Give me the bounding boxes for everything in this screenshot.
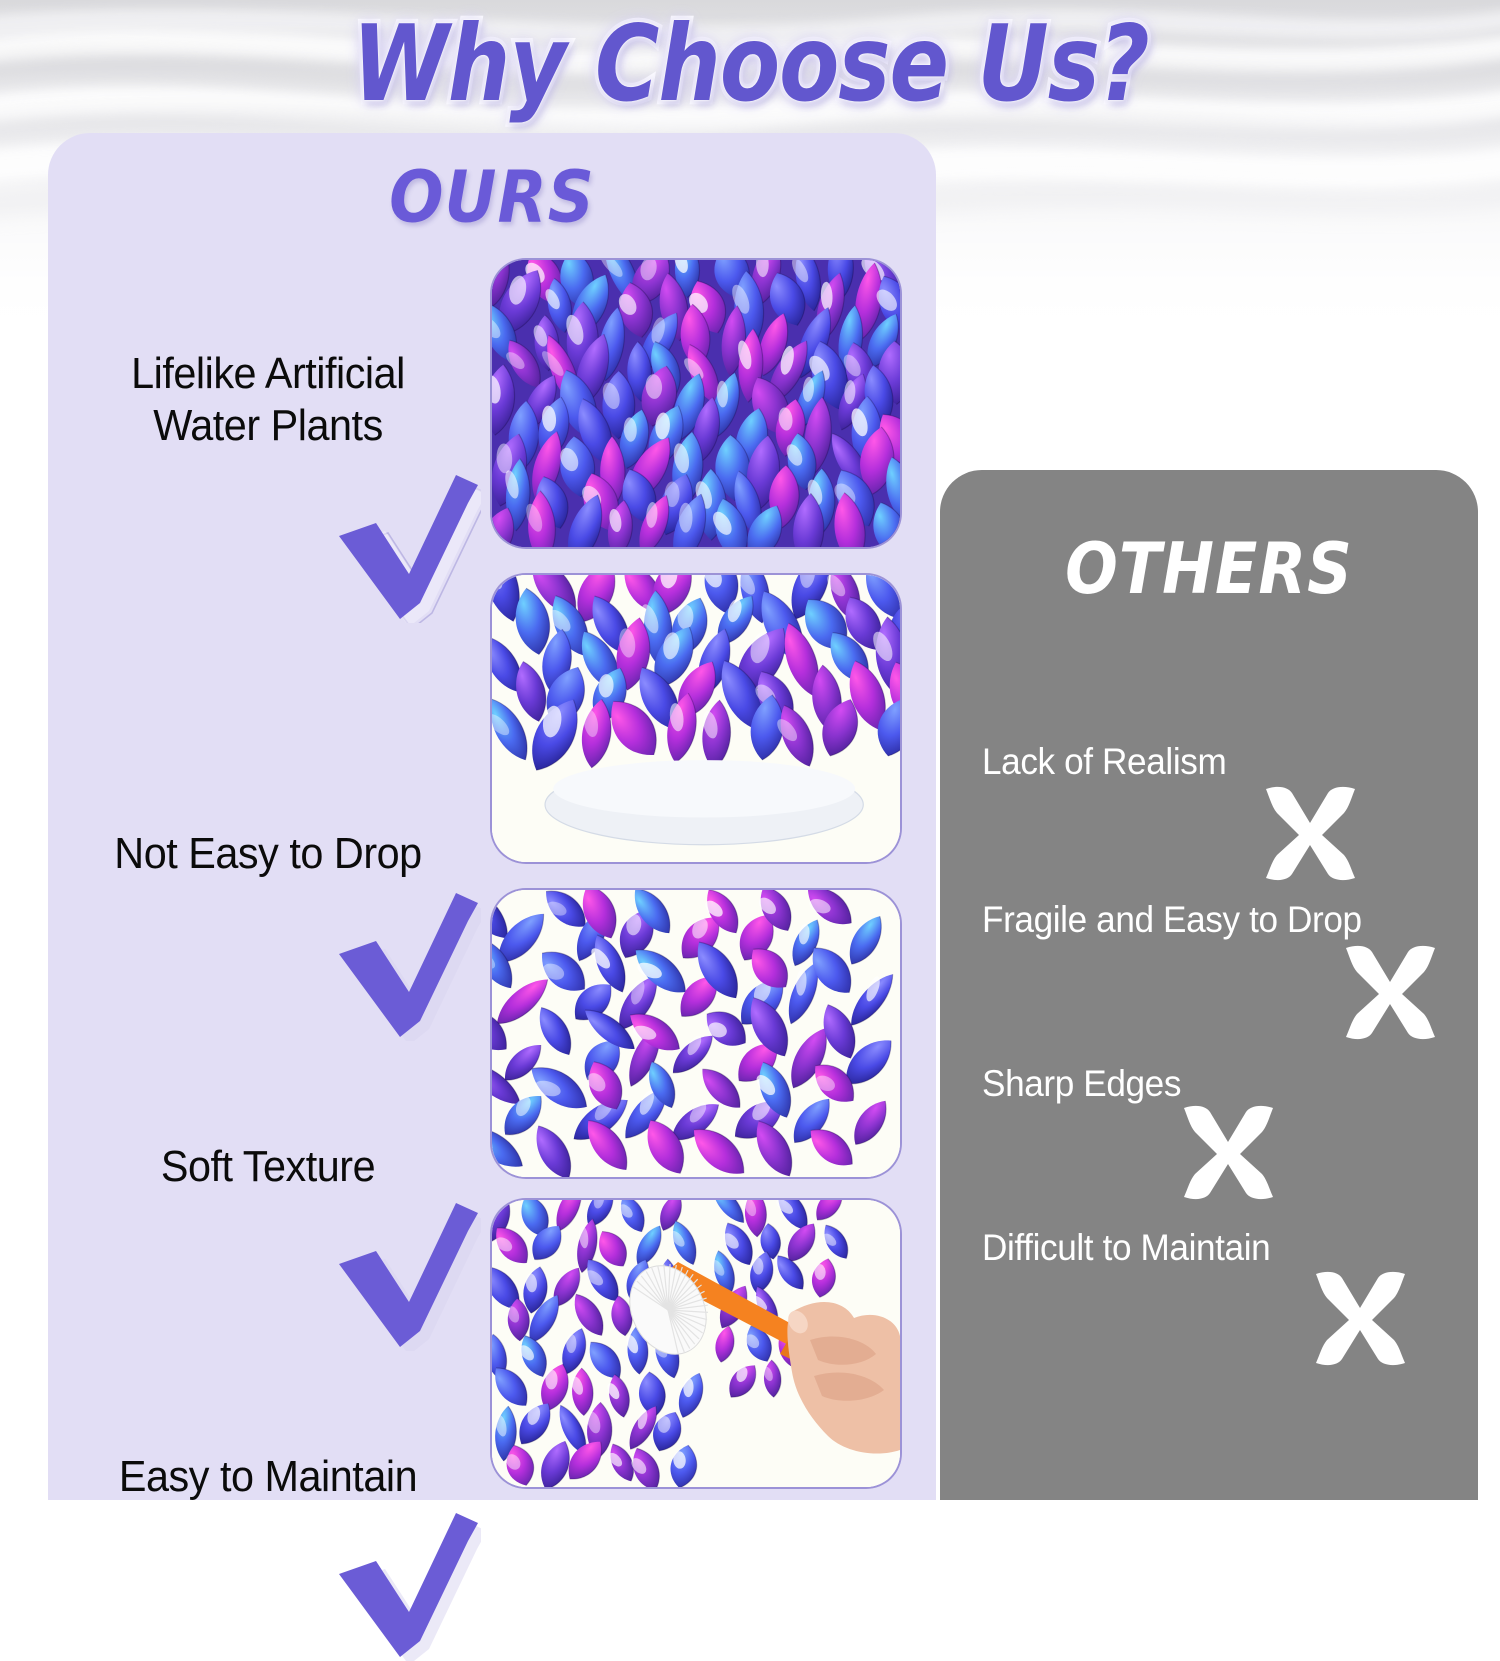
ours-item-photo xyxy=(492,260,900,547)
others-panel: OTHERS Lack of Realism Fragile and Easy … xyxy=(940,470,1478,1500)
ours-item-label-line1: Easy to Maintain xyxy=(71,1451,466,1503)
page-title-container: Why Choose Us? xyxy=(0,8,1500,118)
ours-item-photo xyxy=(492,1200,900,1487)
cross-icon xyxy=(1176,1102,1281,1202)
page-title: Why Choose Us? xyxy=(352,0,1149,130)
others-heading: OTHERS xyxy=(940,527,1478,610)
ours-panel: OURS Lifelike Artificial Water Plants xyxy=(48,133,936,1500)
ours-item-label-line1: Soft Texture xyxy=(71,1141,466,1193)
others-item-label: Fragile and Easy to Drop xyxy=(982,898,1362,942)
check-icon xyxy=(316,891,481,1041)
ours-item-label-line2: Water Plants xyxy=(71,400,466,452)
ours-item-photo xyxy=(492,575,900,862)
cross-icon xyxy=(1308,1268,1413,1368)
ours-item-label: Not Easy to Drop xyxy=(71,828,466,880)
others-item-label: Difficult to Maintain xyxy=(982,1226,1270,1270)
others-item-label: Lack of Realism xyxy=(982,740,1226,784)
ours-item-label-line1: Lifelike Artificial xyxy=(71,348,466,400)
cross-icon xyxy=(1258,783,1363,883)
ours-heading: OURS xyxy=(48,157,936,240)
check-icon xyxy=(316,473,481,623)
ours-item-label-line1: Not Easy to Drop xyxy=(71,828,466,880)
others-item-label: Sharp Edges xyxy=(982,1062,1181,1106)
check-icon xyxy=(316,1511,481,1661)
ours-item-label: Easy to Maintain xyxy=(71,1451,466,1503)
ours-item-label: Soft Texture xyxy=(71,1141,466,1193)
ours-item-photo xyxy=(492,890,900,1177)
check-icon xyxy=(316,1201,481,1351)
ours-item-label: Lifelike Artificial Water Plants xyxy=(71,348,466,452)
cross-icon xyxy=(1338,942,1443,1042)
